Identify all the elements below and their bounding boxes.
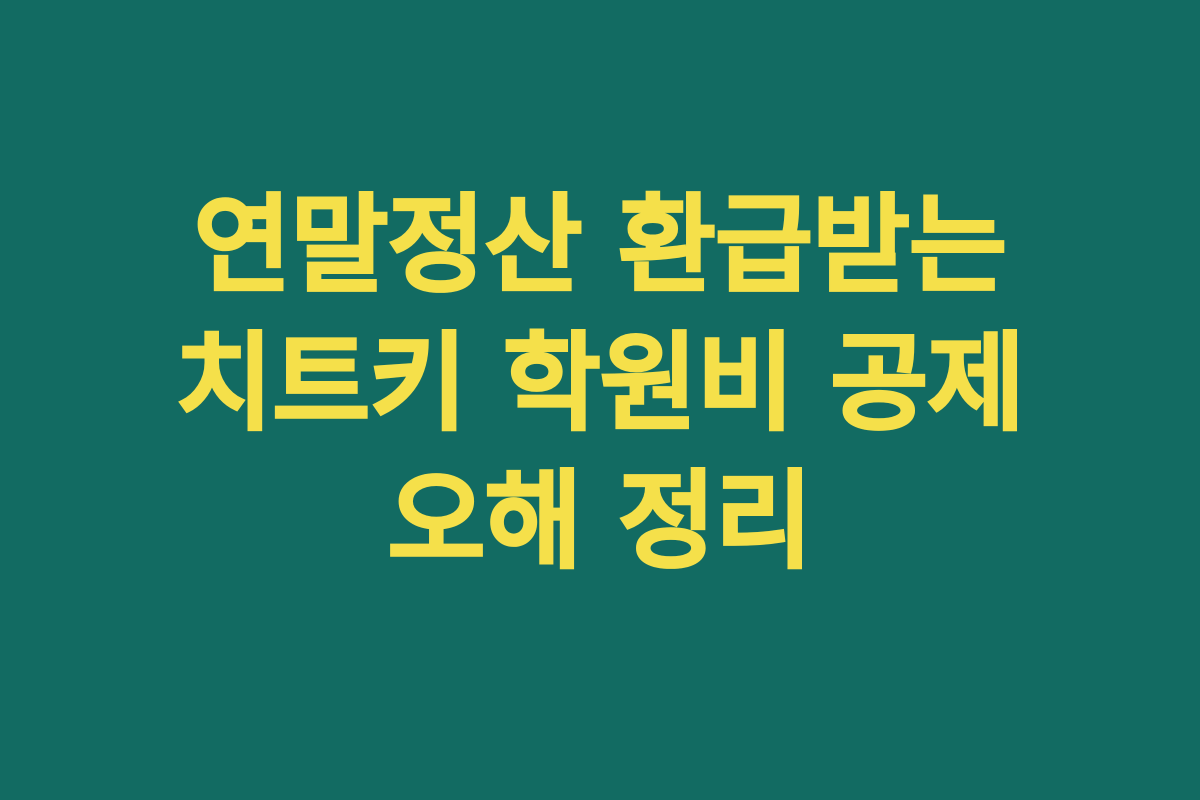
thumbnail-card: 연말정산 환급받는 치트키 학원비 공제 오해 정리 [0,0,1200,800]
title-block: 연말정산 환급받는 치트키 학원비 공제 오해 정리 [85,177,1115,590]
page-title: 연말정산 환급받는 치트키 학원비 공제 오해 정리 [85,177,1115,590]
